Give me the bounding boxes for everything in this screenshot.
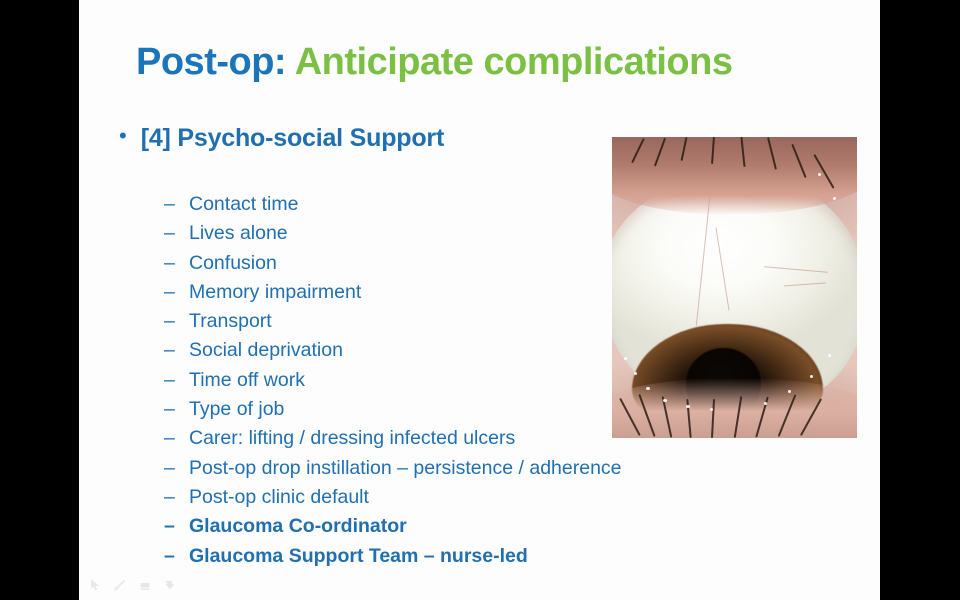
bullet-heading-label: [4] Psycho-social Support: [141, 124, 444, 153]
list-item-label: Contact time: [189, 193, 298, 216]
slide-title-blue-part: Post-op:: [136, 41, 286, 83]
bullet-heading: • [4] Psycho-social Support: [119, 124, 444, 153]
clinical-eye-photograph: [612, 137, 857, 438]
light-reflection: [710, 408, 713, 411]
slide-title: Post-op: Anticipate complications: [136, 42, 866, 84]
list-item: – Post-op clinic default: [164, 486, 784, 515]
presentation-viewer: Post-op: Anticipate complications • [4] …: [0, 0, 960, 600]
dash-bullet-icon: –: [164, 369, 177, 392]
light-reflection: [828, 354, 831, 357]
dash-bullet-icon: –: [164, 193, 177, 216]
dash-bullet-icon: –: [164, 486, 177, 509]
list-item-label: Type of job: [189, 398, 284, 421]
bullet-point-icon: •: [119, 125, 127, 147]
list-item: – Post-op drop instillation – persistenc…: [164, 457, 784, 486]
list-item: – Glaucoma Co-ordinator: [164, 515, 784, 544]
light-reflection: [686, 405, 690, 408]
list-item: – Glaucoma Support Team – nurse-led: [164, 545, 784, 574]
list-item-label: Post-op clinic default: [189, 486, 369, 509]
highlighter-icon[interactable]: [138, 578, 152, 592]
list-item-label: Time off work: [189, 369, 305, 392]
upper-eyelid: [612, 137, 857, 215]
slide-title-green-part: Anticipate complications: [295, 41, 733, 83]
dash-bullet-icon: –: [164, 339, 177, 362]
list-item-label: Confusion: [189, 252, 277, 275]
annotation-toolbar[interactable]: [88, 578, 177, 592]
dash-bullet-icon: –: [164, 427, 177, 450]
list-item-label: Lives alone: [189, 222, 288, 245]
letterbox-bar-left: [0, 0, 79, 600]
list-item-label: Glaucoma Support Team – nurse-led: [189, 545, 528, 568]
letterbox-bar-right: [880, 0, 960, 600]
light-reflection: [833, 197, 836, 200]
dash-bullet-icon: –: [164, 281, 177, 304]
dash-bullet-icon: –: [164, 457, 177, 480]
light-reflection: [818, 173, 821, 176]
pen-icon[interactable]: [113, 578, 127, 592]
list-item-label: Glaucoma Co-ordinator: [189, 515, 407, 538]
list-item-label: Social deprivation: [189, 339, 343, 362]
pointer-icon[interactable]: [88, 578, 102, 592]
dash-bullet-icon: –: [164, 545, 177, 568]
dash-bullet-icon: –: [164, 252, 177, 275]
list-item-label: Transport: [189, 310, 272, 333]
light-reflection: [764, 402, 767, 405]
dash-bullet-icon: –: [164, 310, 177, 333]
eye-photo-content: [612, 137, 857, 438]
list-item-label: Carer: lifting / dressing infected ulcer…: [189, 427, 515, 450]
slide-canvas: Post-op: Anticipate complications • [4] …: [79, 0, 880, 600]
eraser-icon[interactable]: [163, 578, 177, 592]
list-item-label: Post-op drop instillation – persistence …: [189, 457, 622, 480]
list-item-label: Memory impairment: [189, 281, 361, 304]
dash-bullet-icon: –: [164, 398, 177, 421]
dash-bullet-icon: –: [164, 515, 177, 538]
light-reflection: [634, 372, 637, 375]
dash-bullet-icon: –: [164, 222, 177, 245]
